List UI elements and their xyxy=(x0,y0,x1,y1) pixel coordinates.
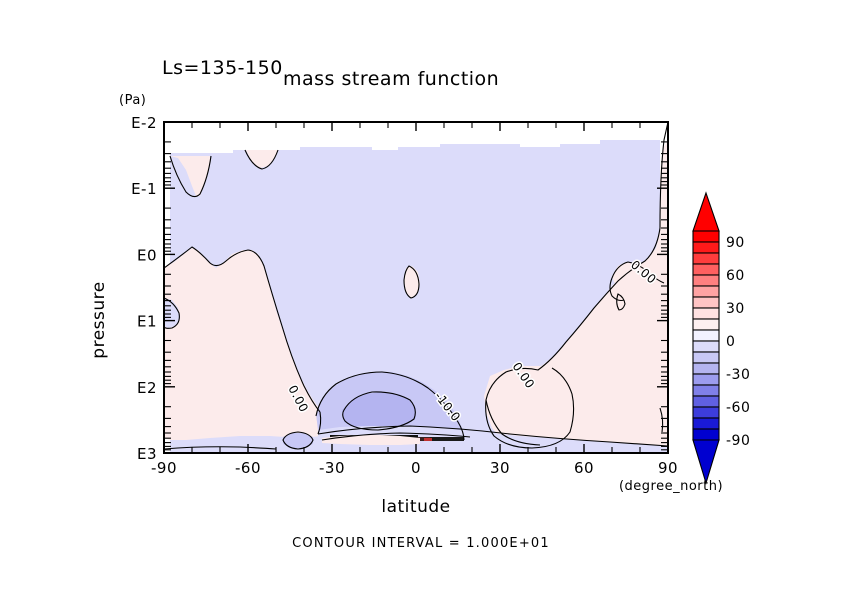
dense-contour-band-3 xyxy=(430,437,464,441)
x-tick-label: 0 xyxy=(411,459,421,477)
colorbar-cell xyxy=(693,407,719,418)
y-tick-label: E1 xyxy=(137,313,157,331)
y-axis-label: pressure xyxy=(89,281,109,358)
colorbar-cap-top xyxy=(693,193,719,231)
plot-title: mass stream function xyxy=(283,68,499,90)
y-tick-label: E2 xyxy=(137,379,157,397)
colorbar-cell xyxy=(693,297,719,308)
y-axis-unit: (Pa) xyxy=(119,93,146,108)
colorbar-tick-label: -90 xyxy=(726,433,750,449)
colorbar-tick-label: 0 xyxy=(726,334,735,350)
colorbar-tick-label: 90 xyxy=(726,235,745,251)
colorbar-cell xyxy=(693,264,719,275)
plot-subtitle: Ls=135-150 xyxy=(162,57,283,79)
y-tick-label: E3 xyxy=(137,445,157,463)
colorbar-cell xyxy=(693,330,719,341)
colorbar-cell xyxy=(693,275,719,286)
colorbar-tick-label: -60 xyxy=(726,400,750,416)
colorbar-cell xyxy=(693,253,719,264)
colorbar-cell xyxy=(693,319,719,330)
colorbar-tick-label: -30 xyxy=(726,367,750,383)
x-tick-label: -30 xyxy=(319,459,345,477)
colorbar-tick-label: 60 xyxy=(726,268,745,284)
x-tick-label: 60 xyxy=(574,459,594,477)
contour-fill-region xyxy=(164,122,668,453)
colorbar[interactable]: 90 60 30 0 -30 -60 -90 xyxy=(693,193,750,483)
dense-contour-highlight xyxy=(424,438,432,441)
figure-canvas: Ls=135-150 mass stream function (Pa) pre… xyxy=(0,0,842,595)
colorbar-cell xyxy=(693,231,719,242)
colorbar-cell xyxy=(693,352,719,363)
x-tick-label: 30 xyxy=(490,459,510,477)
colorbar-cell xyxy=(693,385,719,396)
colorbar-cell xyxy=(693,396,719,407)
contour-interval-caption: CONTOUR INTERVAL = 1.000E+01 xyxy=(292,536,550,551)
colorbar-cell xyxy=(693,308,719,319)
colorbar-cell xyxy=(693,242,719,253)
x-tick-label: 90 xyxy=(658,459,678,477)
colorbar-tick-label: 30 xyxy=(726,301,745,317)
y-tick-label: E-1 xyxy=(131,180,157,198)
colorbar-cell xyxy=(693,429,719,440)
colorbar-cell xyxy=(693,341,719,352)
y-axis-tick-labels: E-2 E-1 E0 E1 E2 E3 xyxy=(131,114,157,463)
colorbar-cell xyxy=(693,363,719,374)
y-tick-label: E-2 xyxy=(131,114,157,132)
contour-plot-svg: Ls=135-150 mass stream function (Pa) pre… xyxy=(0,0,842,595)
x-axis-unit: (degree_north) xyxy=(619,479,723,494)
x-tick-label: -60 xyxy=(235,459,261,477)
colorbar-cap-bottom xyxy=(693,440,719,483)
colorbar-cell xyxy=(693,286,719,297)
colorbar-cell xyxy=(693,418,719,429)
colorbar-cell xyxy=(693,374,719,385)
x-axis-tick-labels: -90 -60 -30 0 30 60 90 xyxy=(151,459,678,477)
x-axis-label: latitude xyxy=(381,497,450,517)
y-tick-label: E0 xyxy=(137,246,157,264)
